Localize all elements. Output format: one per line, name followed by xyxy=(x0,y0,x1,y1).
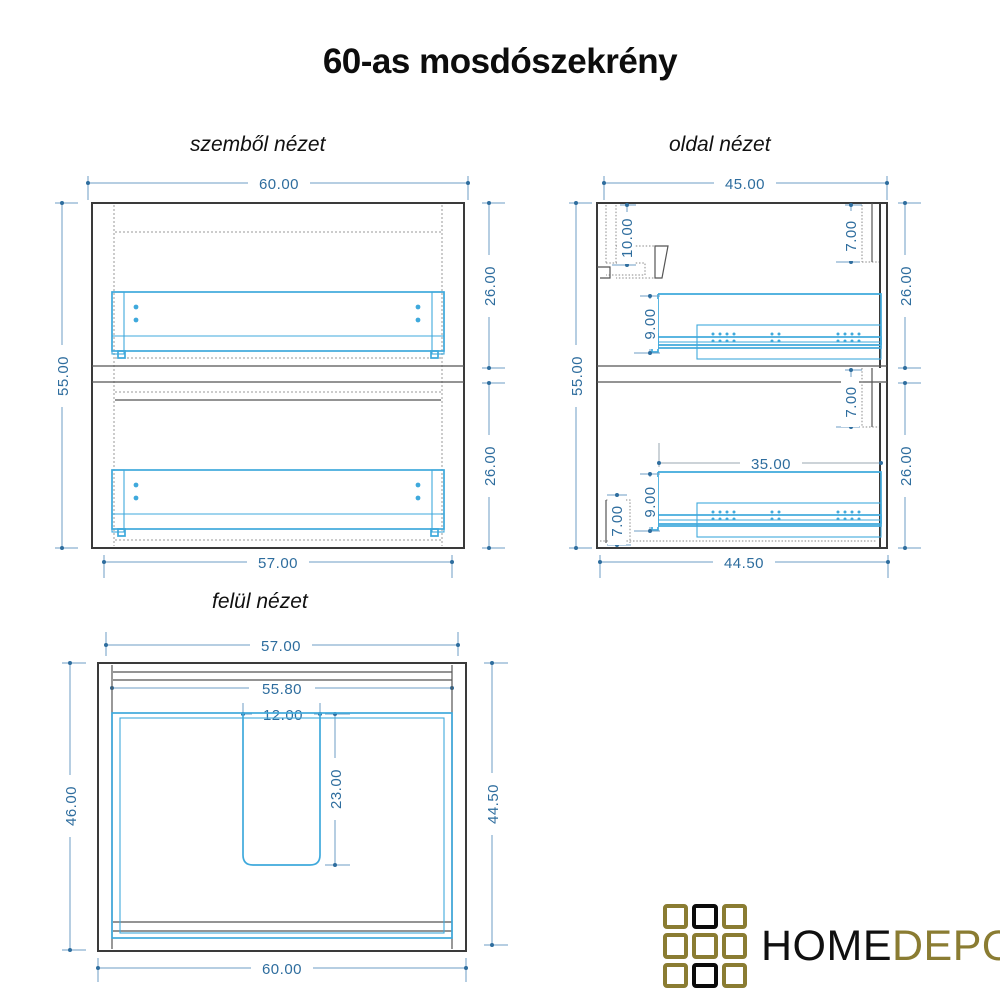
technical-drawing: .ol { fill:none; stroke:#3a3a3a; stroke-… xyxy=(0,0,1000,1000)
front-dim-55: 55.00 xyxy=(55,356,72,396)
front-dim-height: 55.00 xyxy=(52,201,78,550)
logo-cell-1 xyxy=(692,904,717,929)
side-dim-9-lower-label: 9.00 xyxy=(642,486,659,517)
top-dim-5580-label: 55.80 xyxy=(262,681,302,698)
side-dim-7-mid: 7.00 xyxy=(836,368,862,429)
side-dim-top-depth: 45.00 xyxy=(602,173,889,200)
side-dim-4450: 44.50 xyxy=(724,555,764,572)
top-dim-23: 23.00 xyxy=(325,712,350,867)
side-dim-9-upper: 9.00 xyxy=(634,294,660,355)
logo-home-text: HOME xyxy=(761,922,892,970)
side-dim-7-bottom-label: 7.00 xyxy=(609,505,626,536)
logo-cell-7 xyxy=(692,963,717,988)
side-mid-right-detail: 7.00 xyxy=(836,368,879,429)
side-dim-26-upper: 26.00 xyxy=(898,266,915,306)
side-dim-bottom-depth: 44.50 xyxy=(598,552,890,578)
side-dim-9-upper-label: 9.00 xyxy=(642,308,659,339)
logo-cell-2 xyxy=(722,904,747,929)
side-drawer-upper[interactable]: 9.00 xyxy=(634,294,881,359)
side-dim-7-top-label: 7.00 xyxy=(843,220,860,251)
logo-cell-5 xyxy=(722,933,747,958)
top-countertop xyxy=(112,713,452,938)
side-dim-10-label: 10.00 xyxy=(619,218,636,258)
side-top-right-detail: 7.00 xyxy=(836,203,879,264)
side-dim-9-lower: 9.00 xyxy=(634,472,660,533)
side-dim-35-label: 35.00 xyxy=(751,456,791,473)
logo-grid-icon xyxy=(663,904,747,988)
top-basin-cutout xyxy=(243,713,320,865)
side-dim-45: 45.00 xyxy=(725,176,765,193)
side-dim-26-lower: 26.00 xyxy=(898,446,915,486)
logo-depo-text: DEPO xyxy=(892,922,1000,970)
front-dim-top-width: 60.00 xyxy=(86,173,470,200)
drawing-canvas: 60-as mosdószekrény szemből nézet oldal … xyxy=(0,0,1000,1000)
front-drawer-upper[interactable] xyxy=(112,292,444,358)
side-bottom-left-detail: 7.00 xyxy=(606,493,631,547)
side-dim-35: 35.00 xyxy=(657,443,883,473)
front-dim-26-upper: 26.00 xyxy=(482,266,499,306)
top-dim-5580: 55.80 xyxy=(110,678,454,698)
top-dim-23-label: 23.00 xyxy=(328,769,345,809)
front-dim-lower-26: 26.00 xyxy=(479,381,505,550)
logo-cell-3 xyxy=(663,933,688,958)
top-dim-4450-label: 44.50 xyxy=(485,784,502,824)
top-dim-12-label: 12.00 xyxy=(263,707,303,724)
side-dim-height: 55.00 xyxy=(566,201,592,550)
front-drawer-lower[interactable] xyxy=(112,470,444,536)
side-dim-7-mid-label: 7.00 xyxy=(843,386,860,417)
top-dim-57: 57.00 xyxy=(104,632,460,656)
logo-cell-6 xyxy=(663,963,688,988)
logo-cell-0 xyxy=(663,904,688,929)
logo-cell-8 xyxy=(722,963,747,988)
top-view: 57.00 55.80 12.00 xyxy=(60,632,508,982)
side-dim-55: 55.00 xyxy=(569,356,586,396)
front-dim-57: 57.00 xyxy=(258,555,298,572)
top-dim-46-label: 46.00 xyxy=(63,786,80,826)
logo-cell-4 xyxy=(692,933,717,958)
top-dim-60-label: 60.00 xyxy=(262,961,302,978)
top-dim-46: 46.00 xyxy=(60,661,86,952)
side-dim-lower-26: 26.00 xyxy=(895,381,921,550)
side-dim-7-bottom: 7.00 xyxy=(607,493,631,547)
front-dim-26-lower: 26.00 xyxy=(482,446,499,486)
front-dim-60: 60.00 xyxy=(259,176,299,193)
front-view: 60.00 55.00 26.00 xyxy=(52,173,505,578)
side-view: 45.00 55.00 26.00 xyxy=(566,173,921,578)
homedepo-logo: HOMEDEPO xyxy=(663,898,983,994)
side-drawer-lower[interactable]: 9.00 xyxy=(634,472,881,537)
logo-wordmark: HOMEDEPO xyxy=(761,925,1000,968)
front-dim-bottom-width: 57.00 xyxy=(102,552,454,578)
top-dim-57-label: 57.00 xyxy=(261,638,301,655)
side-top-bracket-detail: 10.00 xyxy=(597,203,668,278)
top-dim-60: 60.00 xyxy=(96,958,468,982)
top-dim-4450: 44.50 xyxy=(482,661,508,947)
side-dim-7-top: 7.00 xyxy=(836,203,862,264)
front-dim-upper-26: 26.00 xyxy=(479,201,505,370)
side-dim-upper-26: 26.00 xyxy=(895,201,921,370)
